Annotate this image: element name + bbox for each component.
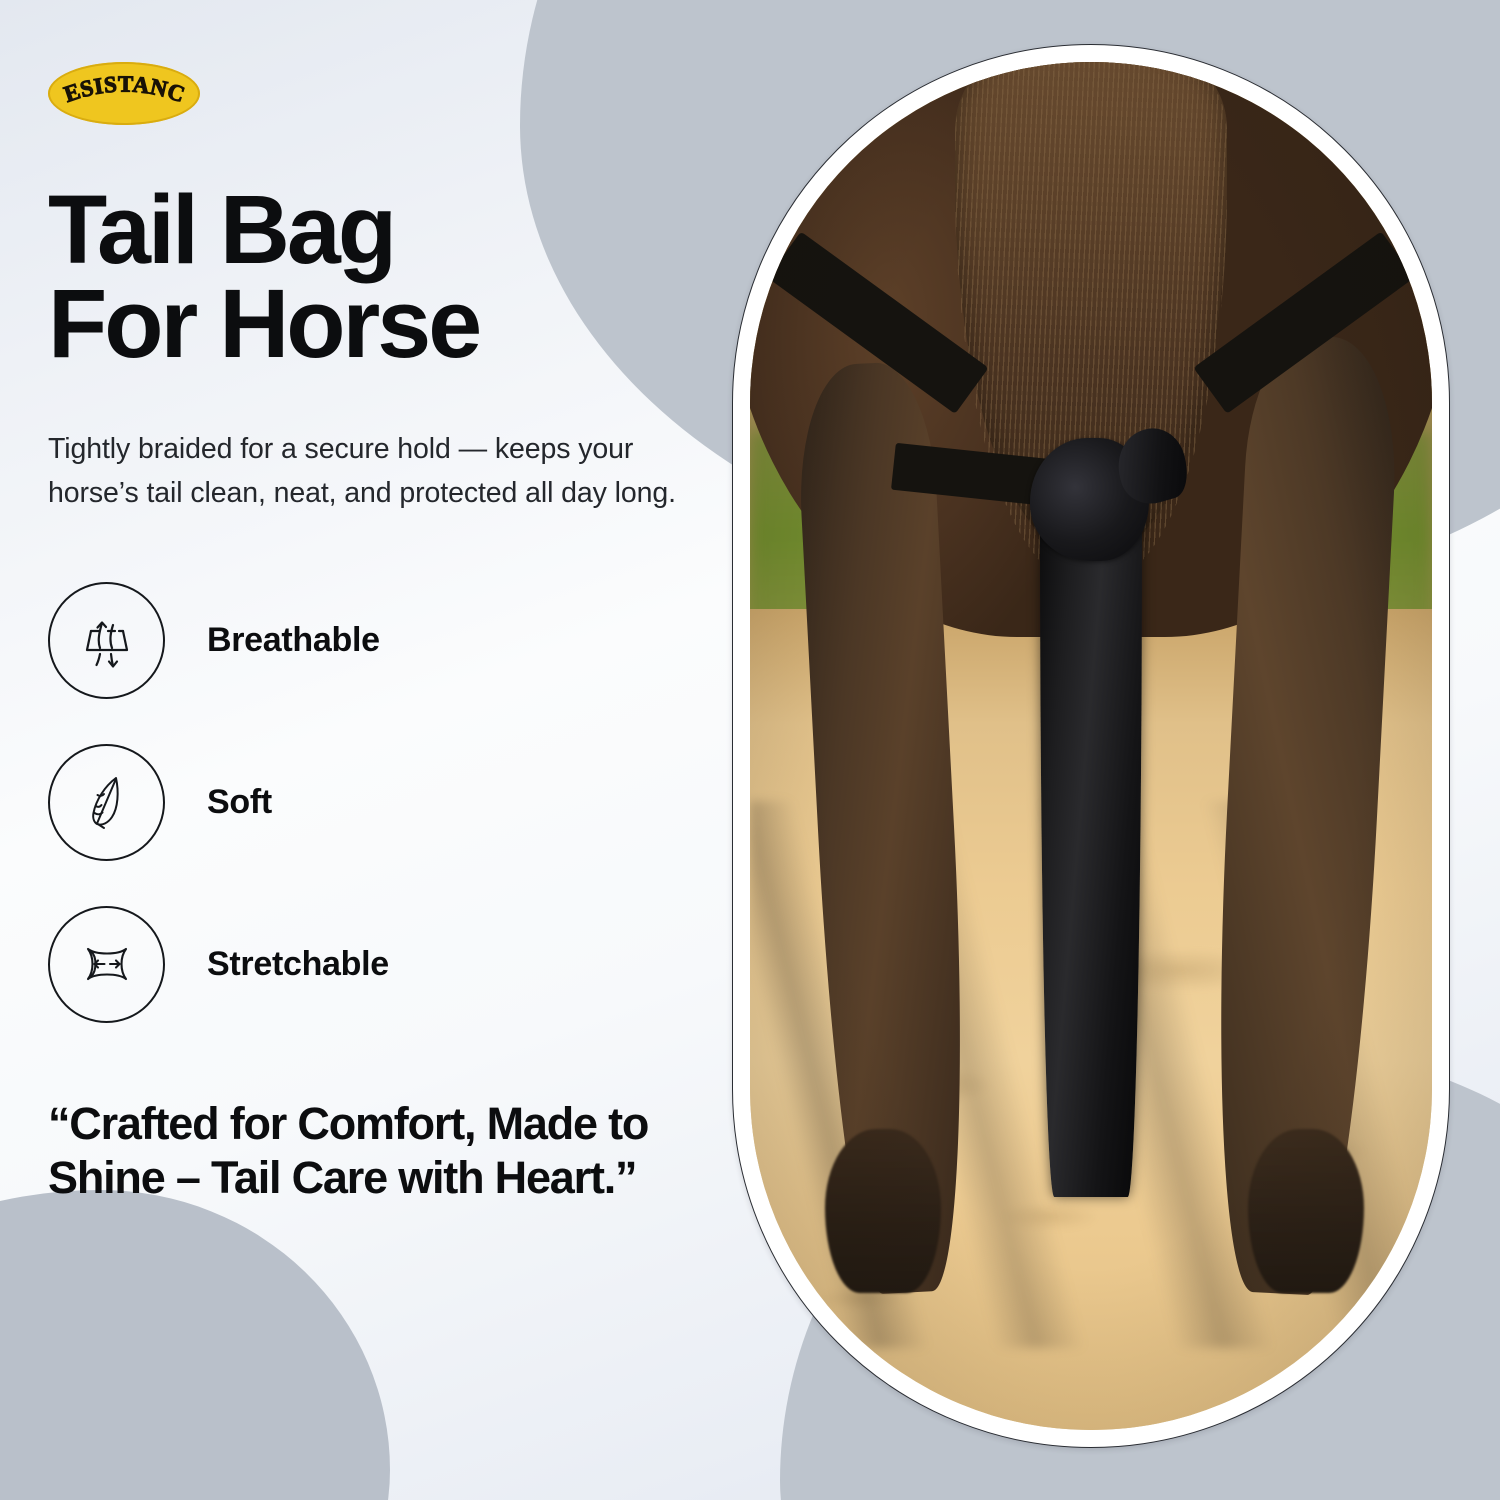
stretchable-icon <box>48 906 165 1023</box>
quote-line-2: Shine – Tail Care with Heart.” <box>48 1151 760 1206</box>
brand-logo: RESISTANCE <box>48 62 200 125</box>
headline-line-1: Tail Bag <box>48 183 760 277</box>
logo-text-arc: RESISTANCE <box>48 62 200 125</box>
feather-icon <box>48 744 165 861</box>
horse-hoof-right <box>1248 1129 1364 1293</box>
product-photo-frame <box>732 44 1450 1448</box>
product-photo <box>750 62 1432 1430</box>
quote-line-1: “Crafted for Comfort, Made to <box>48 1097 760 1152</box>
feature-label-breathable: Breathable <box>207 621 380 660</box>
feature-label-stretchable: Stretchable <box>207 945 389 984</box>
headline-line-2: For Horse <box>48 277 760 371</box>
tagline-quote: “Crafted for Comfort, Made to Shine – Ta… <box>48 1097 760 1207</box>
breathable-icon <box>48 582 165 699</box>
tail-bag-product <box>1040 486 1142 1197</box>
logo-text: RESISTANCE <box>48 62 188 107</box>
feature-item-soft: Soft <box>48 744 760 861</box>
product-description: Tightly braided for a secure hold — keep… <box>48 427 688 515</box>
feature-item-stretchable: Stretchable <box>48 906 760 1023</box>
page-title: Tail Bag For Horse <box>48 183 760 371</box>
feature-list: Breathable <box>48 582 760 1023</box>
feature-label-soft: Soft <box>207 783 272 822</box>
feature-item-breathable: Breathable <box>48 582 760 699</box>
poster-canvas: RESISTANCE Tail Bag For Horse Tightly br… <box>0 0 1500 1500</box>
horse-hoof-left <box>825 1129 941 1293</box>
content-column: RESISTANCE Tail Bag For Horse Tightly br… <box>0 0 760 1500</box>
